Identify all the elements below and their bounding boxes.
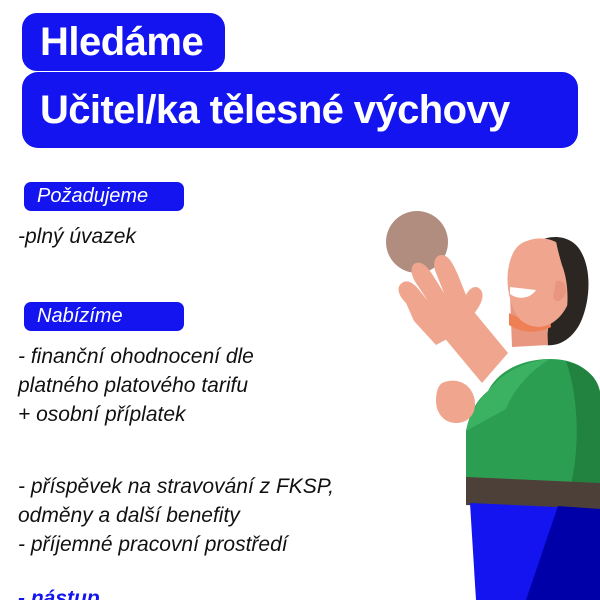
- illustration-man-throwing-ball: [370, 195, 600, 600]
- section-badge-offer: Nabízíme: [24, 302, 184, 331]
- section-badge-offer-label: Nabízíme: [37, 305, 123, 328]
- job-posting-poster: Hledáme Učitel/ka tělesné výchovy Požadu…: [0, 0, 600, 600]
- section-badge-requirements: Požadujeme: [24, 182, 184, 211]
- eyebrow-banner: Hledáme: [22, 13, 225, 71]
- job-title-banner: Učitel/ka tělesné výchovy: [22, 72, 578, 148]
- cut-off-line: - nástup: [18, 584, 100, 600]
- offer-body-benefits: - příspěvek na stravování z FKSP, odměny…: [18, 472, 334, 559]
- offer-body-salary: - finanční ohodnocení dle platného plato…: [18, 342, 254, 429]
- job-title-text: Učitel/ka tělesné výchovy: [40, 88, 510, 133]
- upper-arm-shape: [436, 381, 475, 423]
- section-badge-requirements-label: Požadujeme: [37, 185, 148, 208]
- eyebrow-text: Hledáme: [40, 20, 203, 65]
- requirements-body: -plný úvazek: [18, 222, 136, 251]
